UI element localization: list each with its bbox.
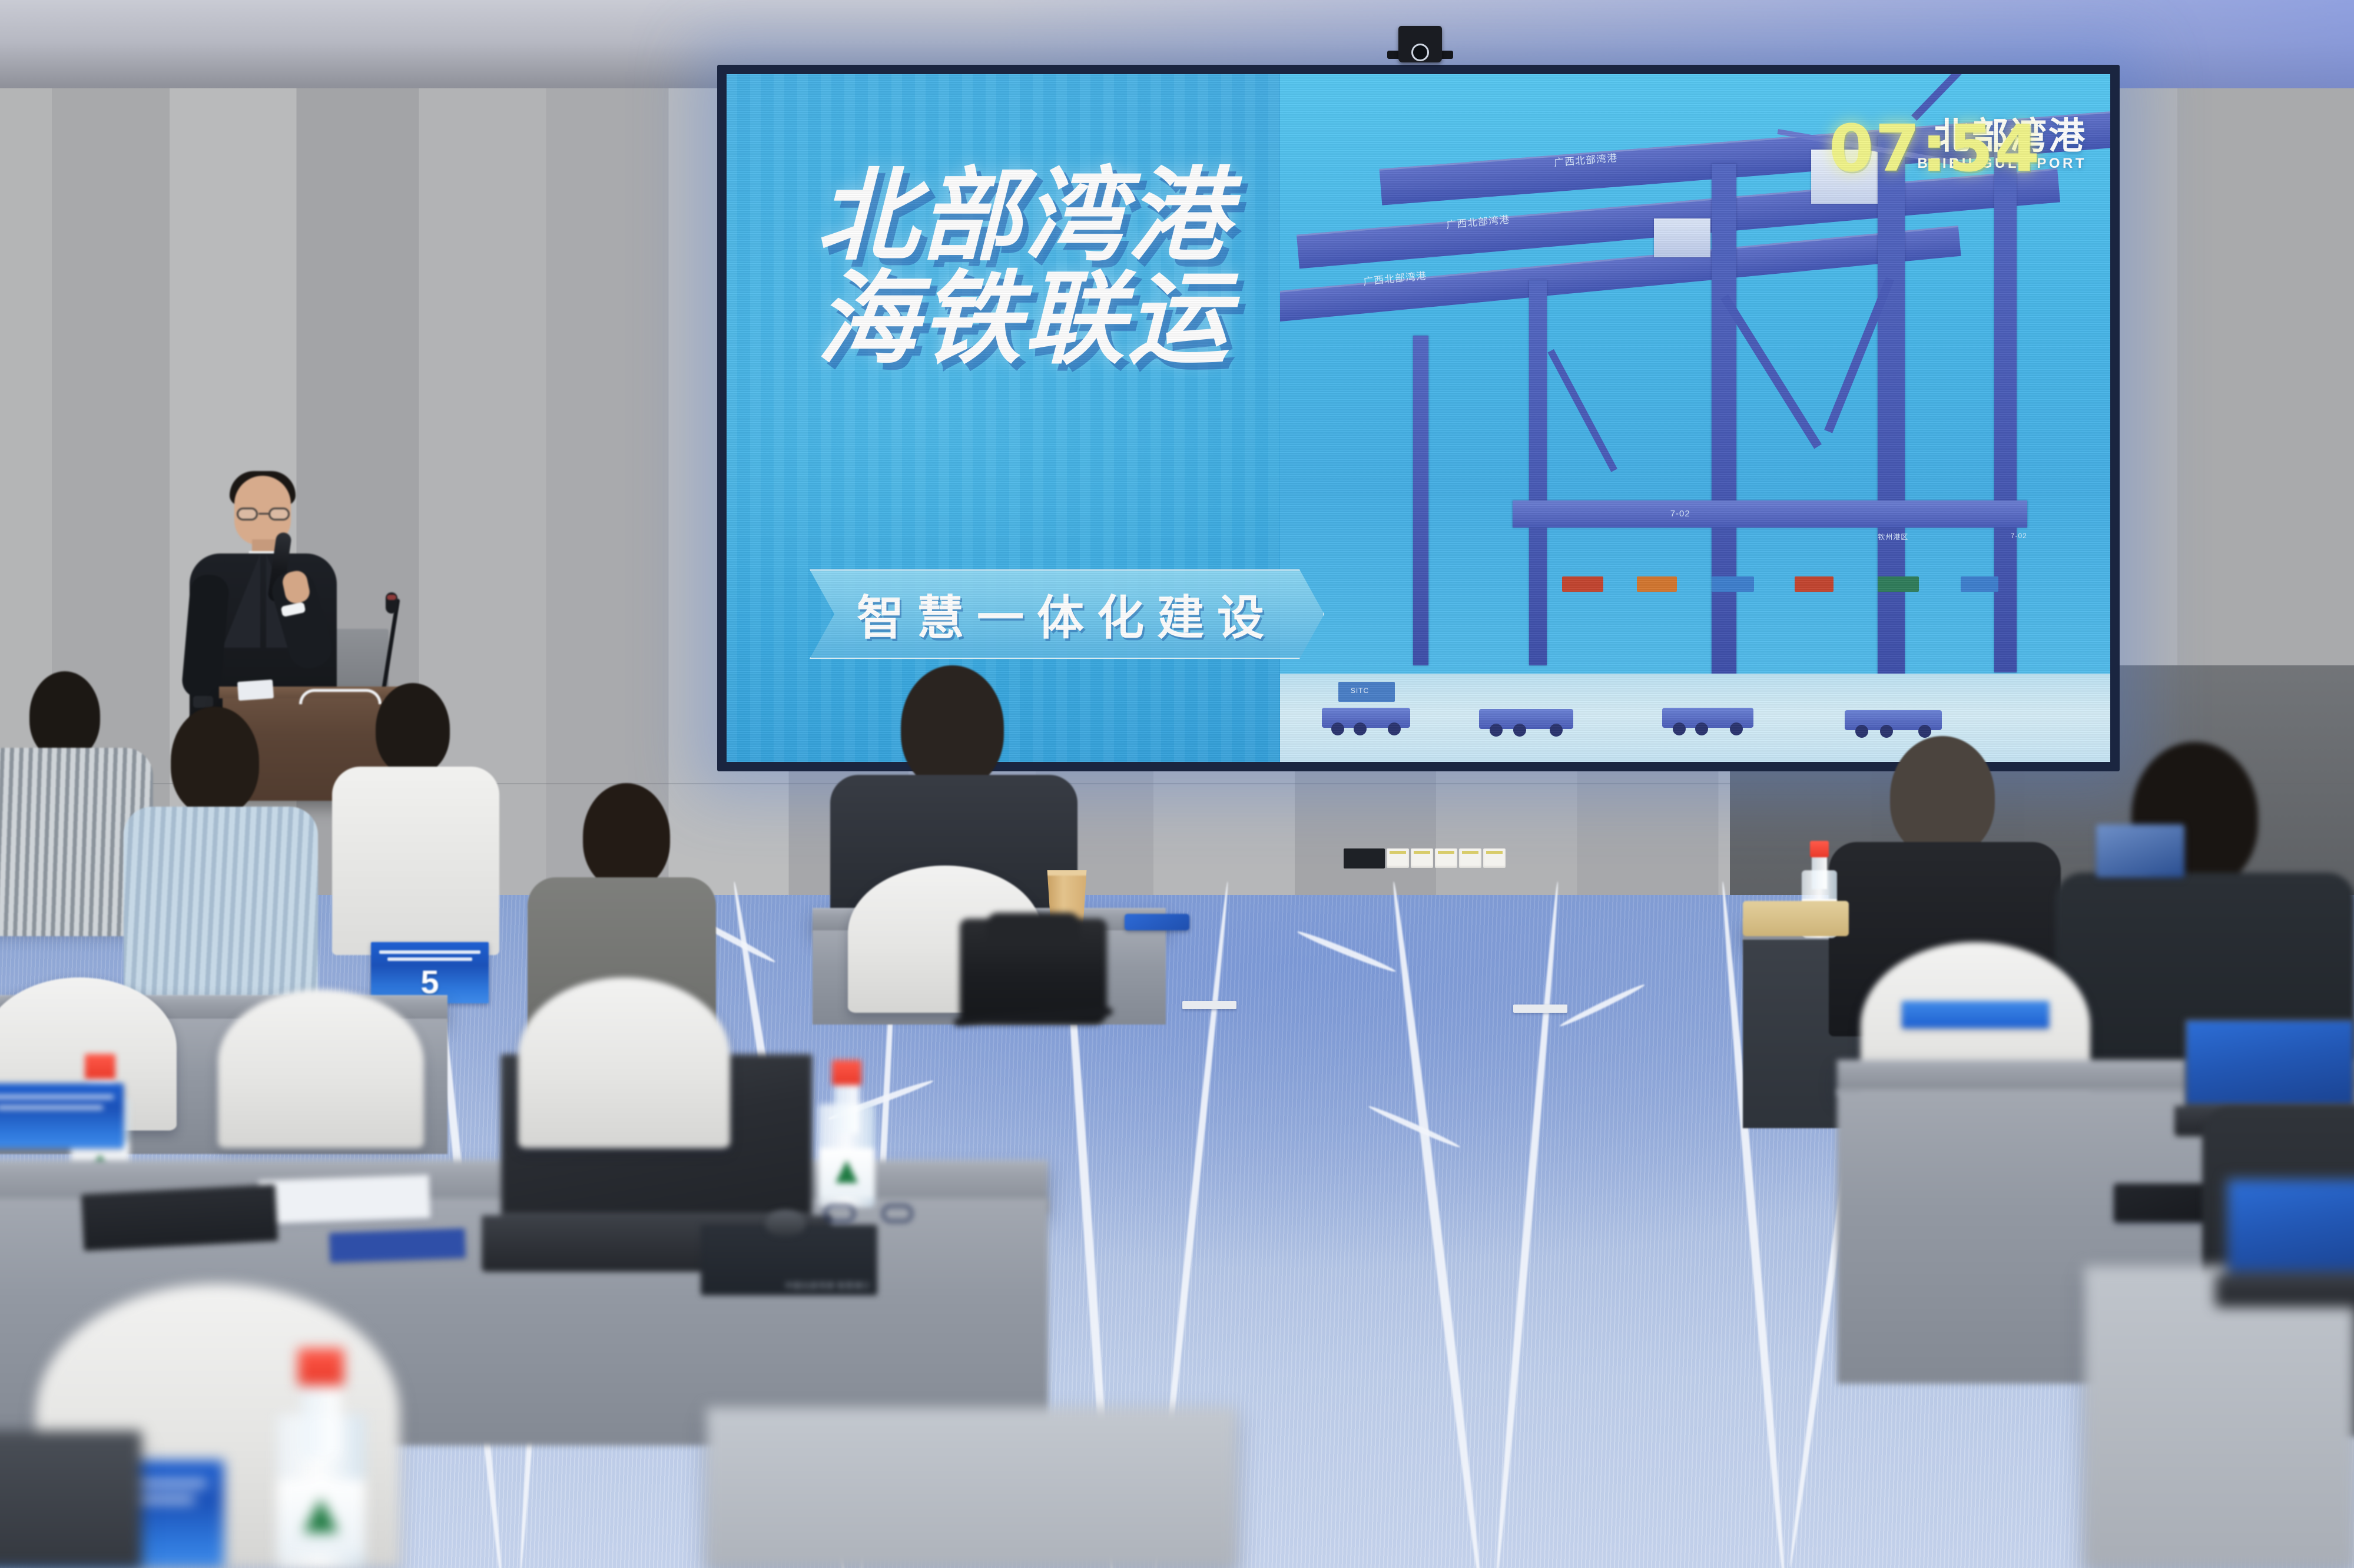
crane-trolley-2 (1654, 218, 1710, 257)
smartphone-camera[interactable] (2096, 824, 2184, 877)
container (1712, 576, 1754, 592)
crane-leg-4 (1529, 280, 1547, 665)
table-row (0, 1431, 141, 1568)
light-switch[interactable] (1483, 848, 1506, 868)
presentation-clicker-icon[interactable] (193, 696, 213, 708)
handbag[interactable] (960, 919, 1107, 1025)
container (1562, 576, 1603, 592)
water-bottle[interactable] (277, 1348, 365, 1568)
eyeglasses-icon (237, 508, 290, 521)
attendee-body (332, 767, 499, 955)
container (1795, 576, 1834, 592)
container (1637, 576, 1677, 592)
handbag-strap (954, 1007, 1113, 1027)
floor-outlet[interactable] (1513, 1005, 1567, 1013)
laptop-screen (2226, 1178, 2354, 1274)
agv-truck (1479, 709, 1573, 729)
crane-leg-2 (1878, 136, 1905, 679)
table-row (707, 1407, 1236, 1568)
agv-truck (1322, 708, 1410, 728)
light-switch[interactable] (1387, 848, 1409, 868)
agv-truck (1662, 708, 1753, 728)
laptop[interactable] (2226, 1178, 2354, 1307)
attendee-head (583, 783, 670, 889)
crane-sill-beam (1513, 500, 2027, 528)
attendee-head (29, 671, 100, 760)
countdown-timer: 07:54 (1829, 111, 2041, 186)
attendee-head (901, 665, 1004, 789)
table-nameplate (1902, 1001, 2049, 1028)
wall-plate-dark[interactable] (1344, 848, 1385, 868)
attendee (118, 707, 318, 954)
slide-canvas: 广西北部湾港 广西北部湾港 广西北部湾港 (727, 74, 2110, 762)
agv-truck (1845, 710, 1942, 730)
laptop-screen (2184, 1019, 2354, 1106)
chair[interactable] (218, 989, 424, 1148)
container (1961, 576, 1998, 592)
blue-folder[interactable] (329, 1228, 466, 1262)
papers[interactable] (258, 1175, 430, 1224)
crane-leg-1 (1712, 164, 1736, 679)
nameplate-number: 5 (420, 966, 439, 999)
attendee-head (1890, 736, 1995, 857)
light-switch[interactable] (1411, 848, 1433, 868)
attendee-head (376, 683, 450, 775)
attendee (518, 783, 718, 1007)
mousepad-text: 中国北部湾港 智慧港口 (785, 1279, 870, 1291)
eyeglasses[interactable] (824, 1201, 913, 1225)
floor-outlet[interactable] (1182, 1001, 1236, 1009)
table-nameplate: 5 (371, 942, 489, 1003)
podium-notes (237, 679, 274, 701)
notebook[interactable] (81, 1184, 278, 1251)
container (1878, 576, 1919, 592)
table-nameplate (0, 1083, 124, 1148)
wall-switch-panel[interactable] (1344, 848, 1506, 868)
light-switch[interactable] (1435, 848, 1457, 868)
chair[interactable] (518, 977, 730, 1148)
crane-leg-5 (1413, 336, 1428, 666)
light-switch[interactable] (1459, 848, 1481, 868)
camera-lens-icon (1411, 44, 1429, 61)
laptop-base (2215, 1274, 2354, 1307)
crane-brace-3 (1548, 349, 1618, 472)
crane-leg-3 (1994, 143, 2017, 672)
water-bottle[interactable] (818, 1060, 875, 1207)
attendee-body (124, 807, 318, 1007)
microphone-tip-icon (387, 595, 396, 600)
handbag-flap (986, 913, 1080, 942)
attendee-head (171, 707, 259, 816)
serving-tray (1743, 901, 1849, 936)
table-row (2084, 1266, 2354, 1568)
conference-camera-icon[interactable] (1398, 26, 1442, 62)
slide-title: 北部湾港海铁联运 (817, 164, 1231, 370)
smartphone[interactable] (1125, 914, 1189, 930)
attendee (330, 683, 500, 930)
slide-subtitle: 智慧一体化建设 (857, 580, 1277, 648)
conference-room-scene: 广西北部湾港 广西北部湾港 广西北部湾港 (0, 0, 2354, 1568)
slide-subtitle-band: 智慧一体化建设 (810, 569, 1324, 659)
computer-mouse[interactable] (765, 1210, 805, 1236)
